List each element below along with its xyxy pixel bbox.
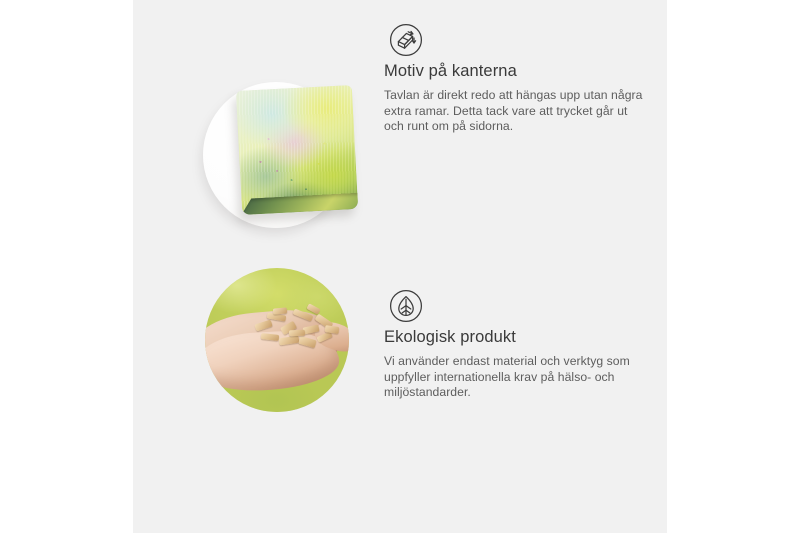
feature-block-ekologisk-produkt: Ekologisk produkt Vi använder endast mat…: [133, 266, 667, 533]
canvas-print: [236, 85, 358, 215]
wrapped-canvas-edge-icon: [386, 20, 426, 60]
feature-title: Motiv på kanterna: [384, 62, 646, 81]
canvas-print-on-white-disc-photo: [203, 82, 355, 234]
feature-description: Vi använder endast material och verktyg …: [384, 354, 660, 401]
product-feature-infographic: Motiv på kanterna Tavlan är direkt redo …: [0, 0, 800, 533]
leaf-icon: [386, 286, 426, 326]
hands-holding-wood-chips-photo: [205, 268, 357, 420]
content-panel: Motiv på kanterna Tavlan är direkt redo …: [133, 0, 667, 533]
feature-text-ekologisk-produkt: Ekologisk produkt Vi använder endast mat…: [384, 328, 660, 401]
feature-text-motiv-pa-kanterna: Motiv på kanterna Tavlan är direkt redo …: [384, 62, 646, 135]
wood-chip-pile: [251, 306, 347, 352]
feature-description: Tavlan är direkt redo att hängas upp uta…: [384, 88, 646, 135]
feature-title: Ekologisk produkt: [384, 328, 660, 347]
circular-photo: [205, 268, 349, 412]
feature-block-motiv-pa-kanterna: Motiv på kanterna Tavlan är direkt redo …: [133, 0, 667, 266]
